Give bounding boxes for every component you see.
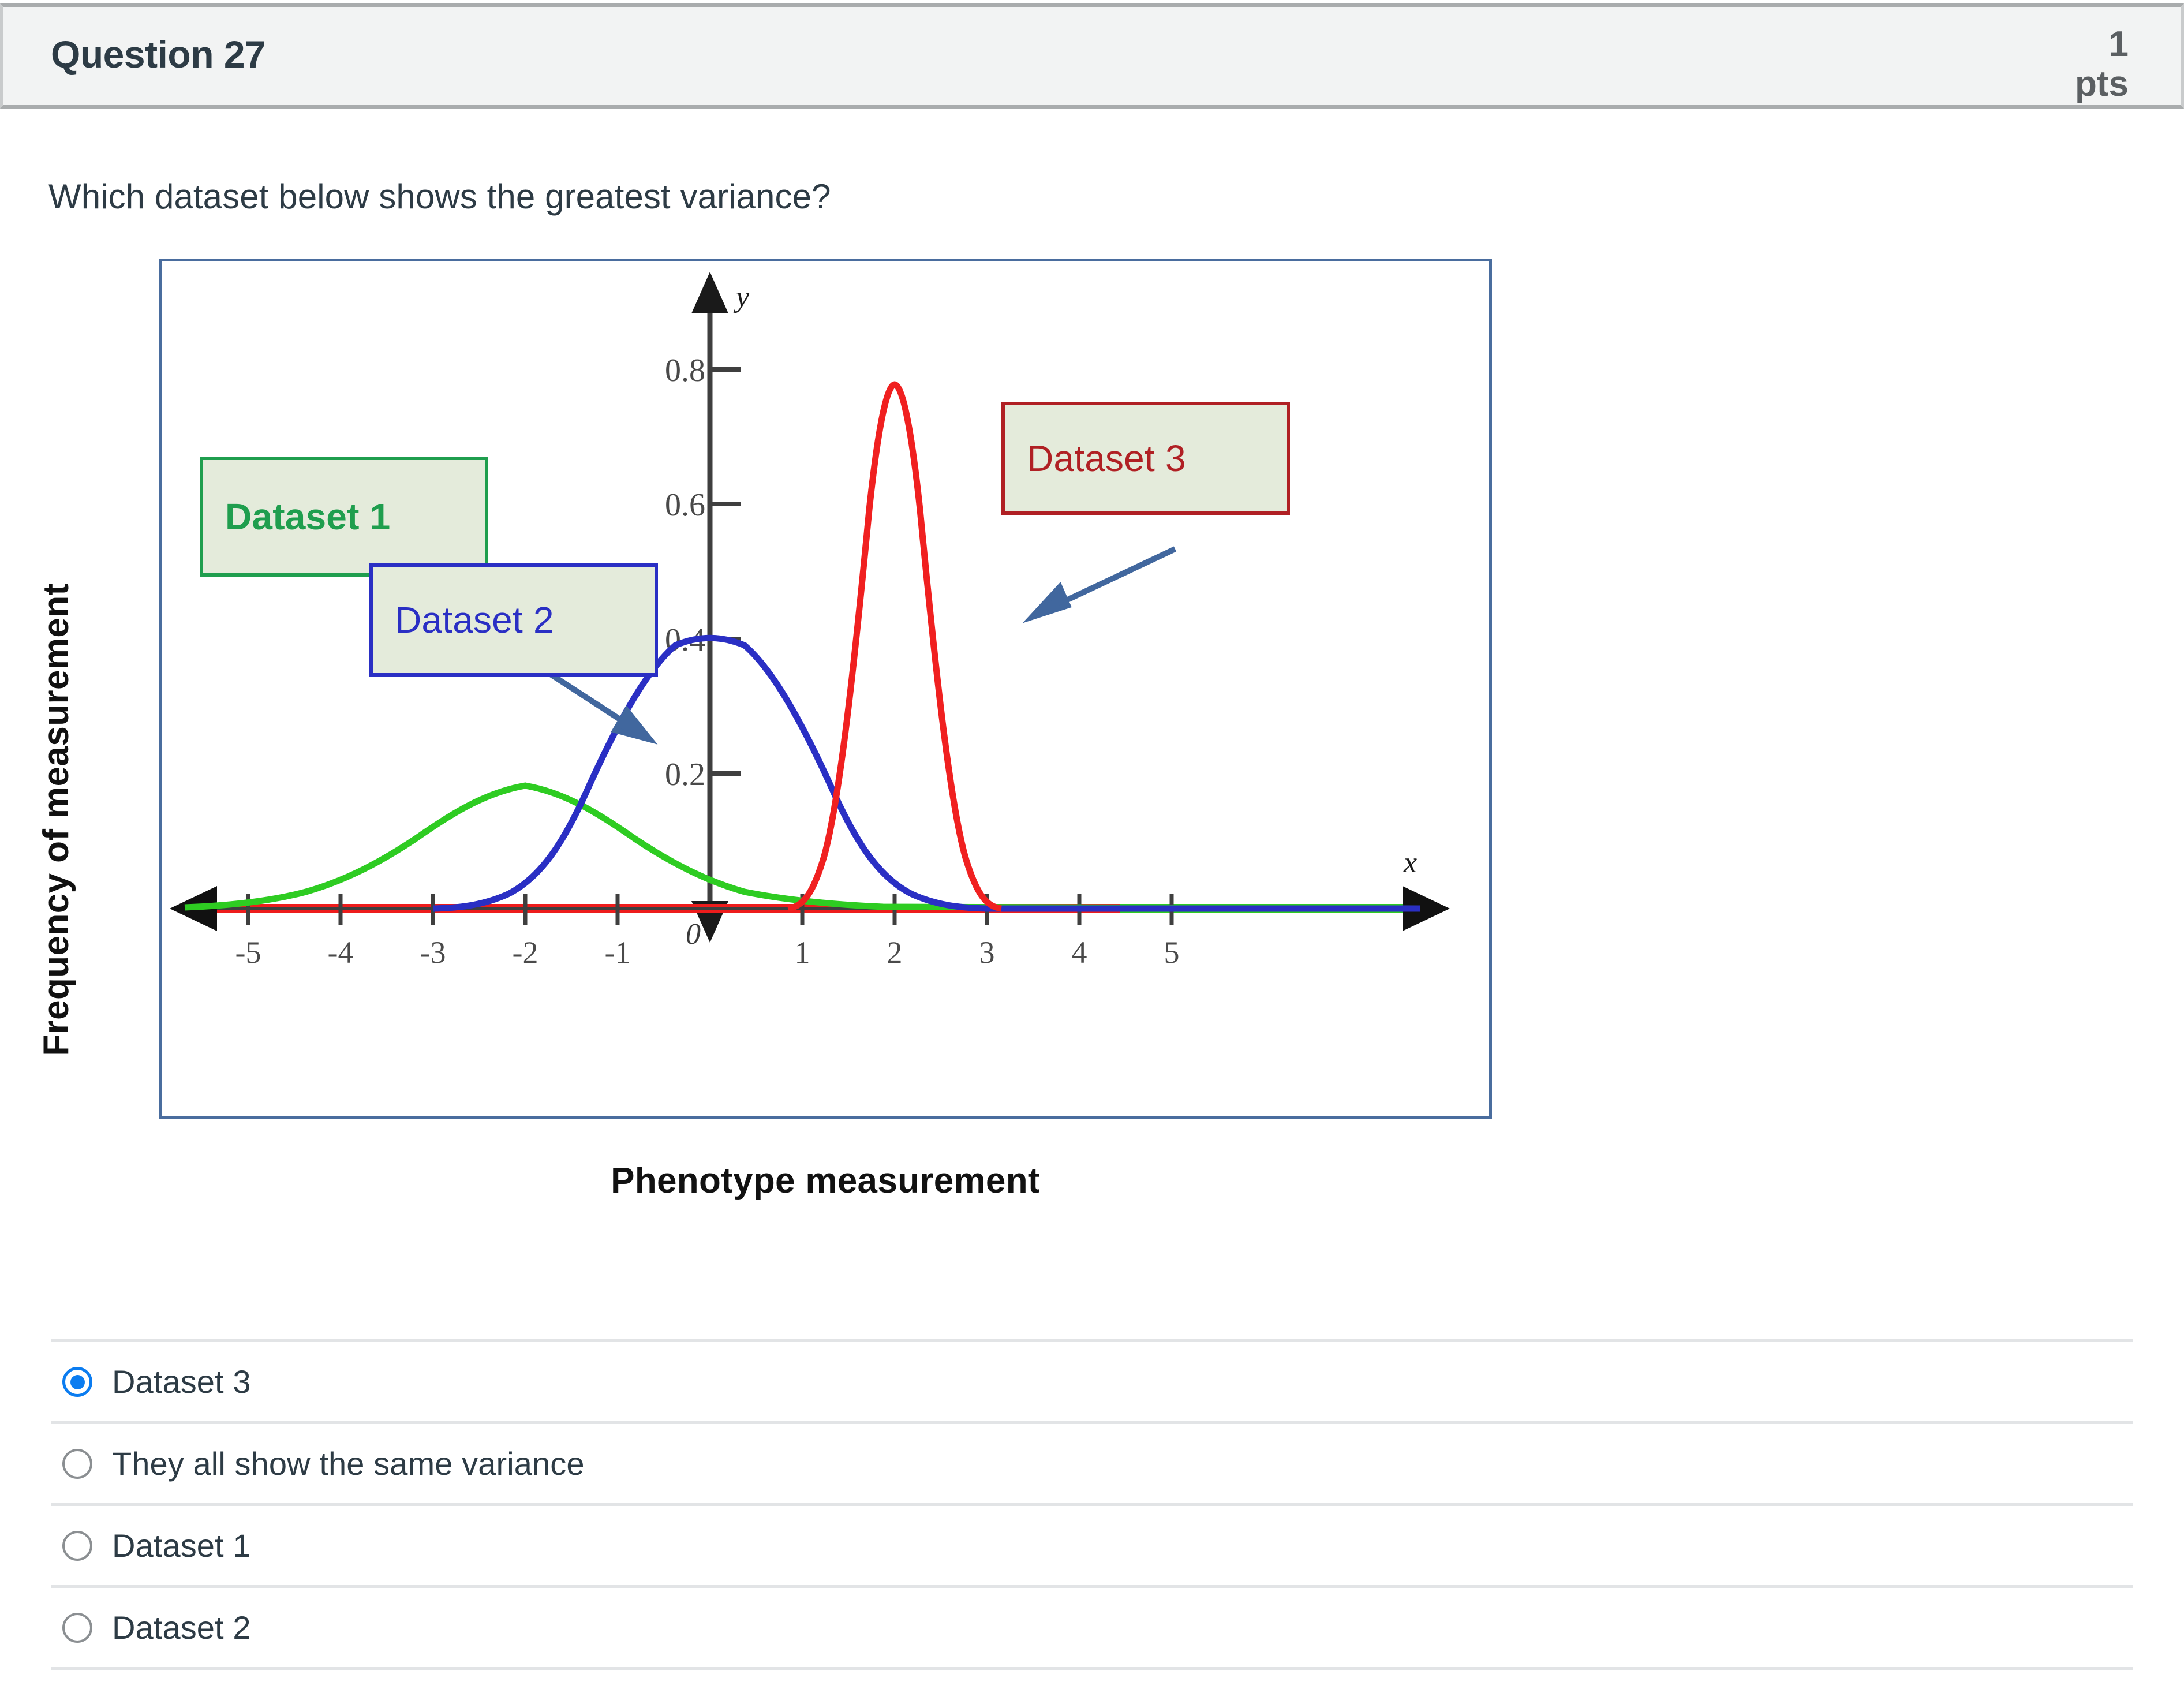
figure-y-axis-title: Frequency of measurement — [36, 566, 77, 1074]
answer-option-label: Dataset 2 — [112, 1609, 251, 1646]
svg-text:2: 2 — [887, 935, 903, 970]
callout-dataset-2: Dataset 2 — [369, 563, 658, 677]
question-figure: Frequency of measurement y 0.8 — [63, 242, 1495, 1264]
curve-dataset-2 — [433, 638, 1420, 909]
question-title: Question 27 — [51, 32, 265, 76]
svg-text:4: 4 — [1072, 935, 1087, 970]
distribution-chart: y 0.8 0.6 0.4 0.2 0 — [162, 261, 1489, 1116]
svg-text:5: 5 — [1164, 935, 1180, 970]
arrow-line-dataset-3 — [1050, 549, 1175, 608]
curve-dataset-1 — [185, 786, 1420, 909]
svg-text:-1: -1 — [605, 935, 631, 970]
origin-label: 0 — [686, 918, 701, 951]
question-points: 1 pts — [1944, 24, 2129, 104]
answer-option-row[interactable]: Dataset 2 — [51, 1585, 2133, 1667]
y-axis-ticks — [710, 369, 741, 773]
svg-text:0.2: 0.2 — [665, 757, 705, 793]
radio-button-icon[interactable] — [62, 1531, 92, 1561]
callout-dataset-1: Dataset 1 — [200, 457, 488, 577]
answers-bottom-divider — [51, 1667, 2133, 1670]
question-prompt: Which dataset below shows the greatest v… — [48, 177, 831, 216]
y-axis-tick-labels: 0.8 0.6 0.4 0.2 — [665, 353, 705, 793]
points-label: pts — [1944, 64, 2129, 104]
answer-option-label: Dataset 3 — [112, 1363, 251, 1400]
callout-dataset-3: Dataset 3 — [1001, 402, 1290, 515]
svg-text:0.8: 0.8 — [665, 353, 705, 388]
svg-text:0.6: 0.6 — [665, 487, 705, 523]
x-axis-letter: x — [1403, 846, 1417, 879]
radio-button-icon[interactable] — [62, 1367, 92, 1397]
svg-text:3: 3 — [979, 935, 995, 970]
chart-frame: y 0.8 0.6 0.4 0.2 0 — [159, 259, 1492, 1119]
svg-text:-5: -5 — [235, 935, 261, 970]
arrow-head-dataset-3 — [1032, 587, 1068, 617]
answer-option-row[interactable]: Dataset 3 — [51, 1339, 2133, 1421]
answer-option-label: Dataset 1 — [112, 1527, 251, 1564]
y-axis-arrow-up — [691, 272, 728, 313]
answer-option-label: They all show the same variance — [112, 1445, 585, 1482]
svg-text:-4: -4 — [328, 935, 354, 970]
question-page: Question 27 1 pts Which dataset below sh… — [0, 0, 2184, 1704]
answer-option-row[interactable]: They all show the same variance — [51, 1421, 2133, 1503]
arrow-head-dataset-2 — [615, 711, 650, 739]
svg-text:-3: -3 — [420, 935, 446, 970]
figure-x-axis-title: Phenotype measurement — [159, 1160, 1492, 1201]
answer-option-row[interactable]: Dataset 1 — [51, 1503, 2133, 1585]
question-header: Question 27 — [0, 3, 2184, 109]
radio-button-icon[interactable] — [62, 1449, 92, 1479]
points-value: 1 — [1944, 24, 2129, 64]
svg-text:1: 1 — [795, 935, 810, 970]
curve-dataset-3 — [788, 384, 1001, 909]
svg-text:-2: -2 — [513, 935, 538, 970]
x-axis-tick-labels: -5 -4 -3 -2 -1 1 2 3 4 5 — [235, 935, 1180, 970]
radio-button-icon[interactable] — [62, 1613, 92, 1643]
answer-options-list: Dataset 3 They all show the same varianc… — [51, 1339, 2133, 1667]
y-axis-letter: y — [733, 281, 750, 313]
